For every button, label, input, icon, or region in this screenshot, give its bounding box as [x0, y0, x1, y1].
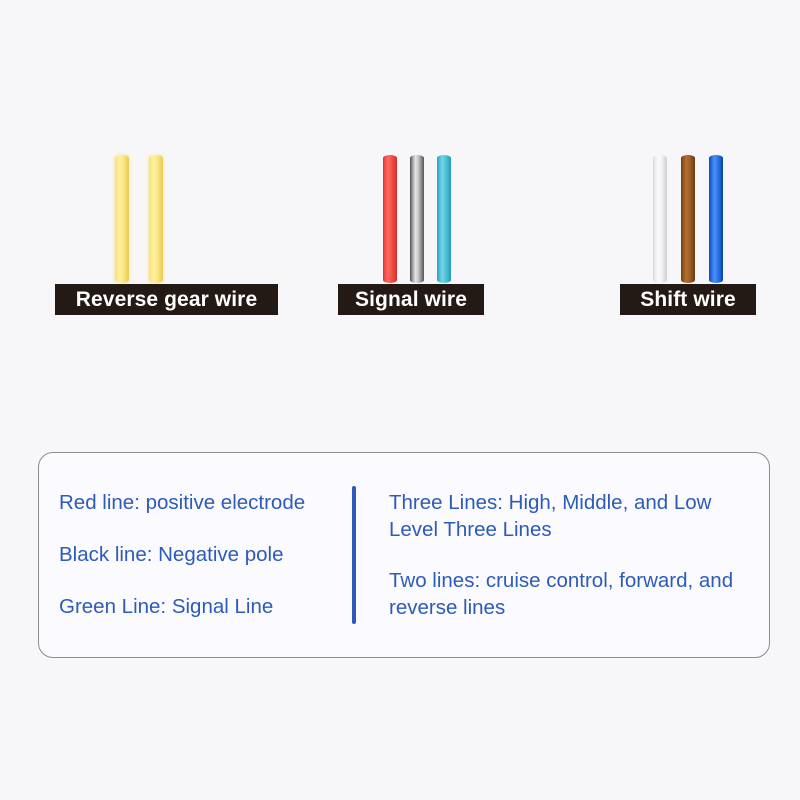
info-column-right: Three Lines: High, Middle, and Low Level… — [356, 453, 769, 657]
wire-label-signal: Signal wire — [338, 284, 484, 315]
wire-groups-row: Reverse gear wire Signal wire Shift wire — [0, 0, 800, 330]
white-wire — [653, 155, 667, 283]
wire-bundle-signal — [383, 155, 464, 283]
red-wire — [383, 155, 397, 283]
info-line-red: Red line: positive electrode — [59, 488, 352, 518]
cyan-wire — [437, 155, 451, 283]
info-para-two-lines: Two lines: cruise control, forward, and … — [389, 567, 751, 621]
brown-wire — [681, 155, 695, 283]
info-line-black: Black line: Negative pole — [59, 540, 352, 570]
yellow-wire — [115, 155, 129, 283]
wire-bundle-shift — [653, 155, 737, 283]
info-para-three-lines: Three Lines: High, Middle, and Low Level… — [389, 489, 751, 543]
blue-wire — [709, 155, 723, 283]
yellow-wire — [149, 155, 163, 283]
wire-bundle-reverse-gear — [115, 155, 183, 283]
info-line-green: Green Line: Signal Line — [59, 592, 352, 622]
wire-label-shift: Shift wire — [620, 284, 756, 315]
info-panel: Red line: positive electrode Black line:… — [38, 452, 770, 658]
info-column-left: Red line: positive electrode Black line:… — [39, 453, 352, 657]
wire-label-reverse-gear: Reverse gear wire — [55, 284, 278, 315]
gray-wire — [410, 155, 424, 283]
